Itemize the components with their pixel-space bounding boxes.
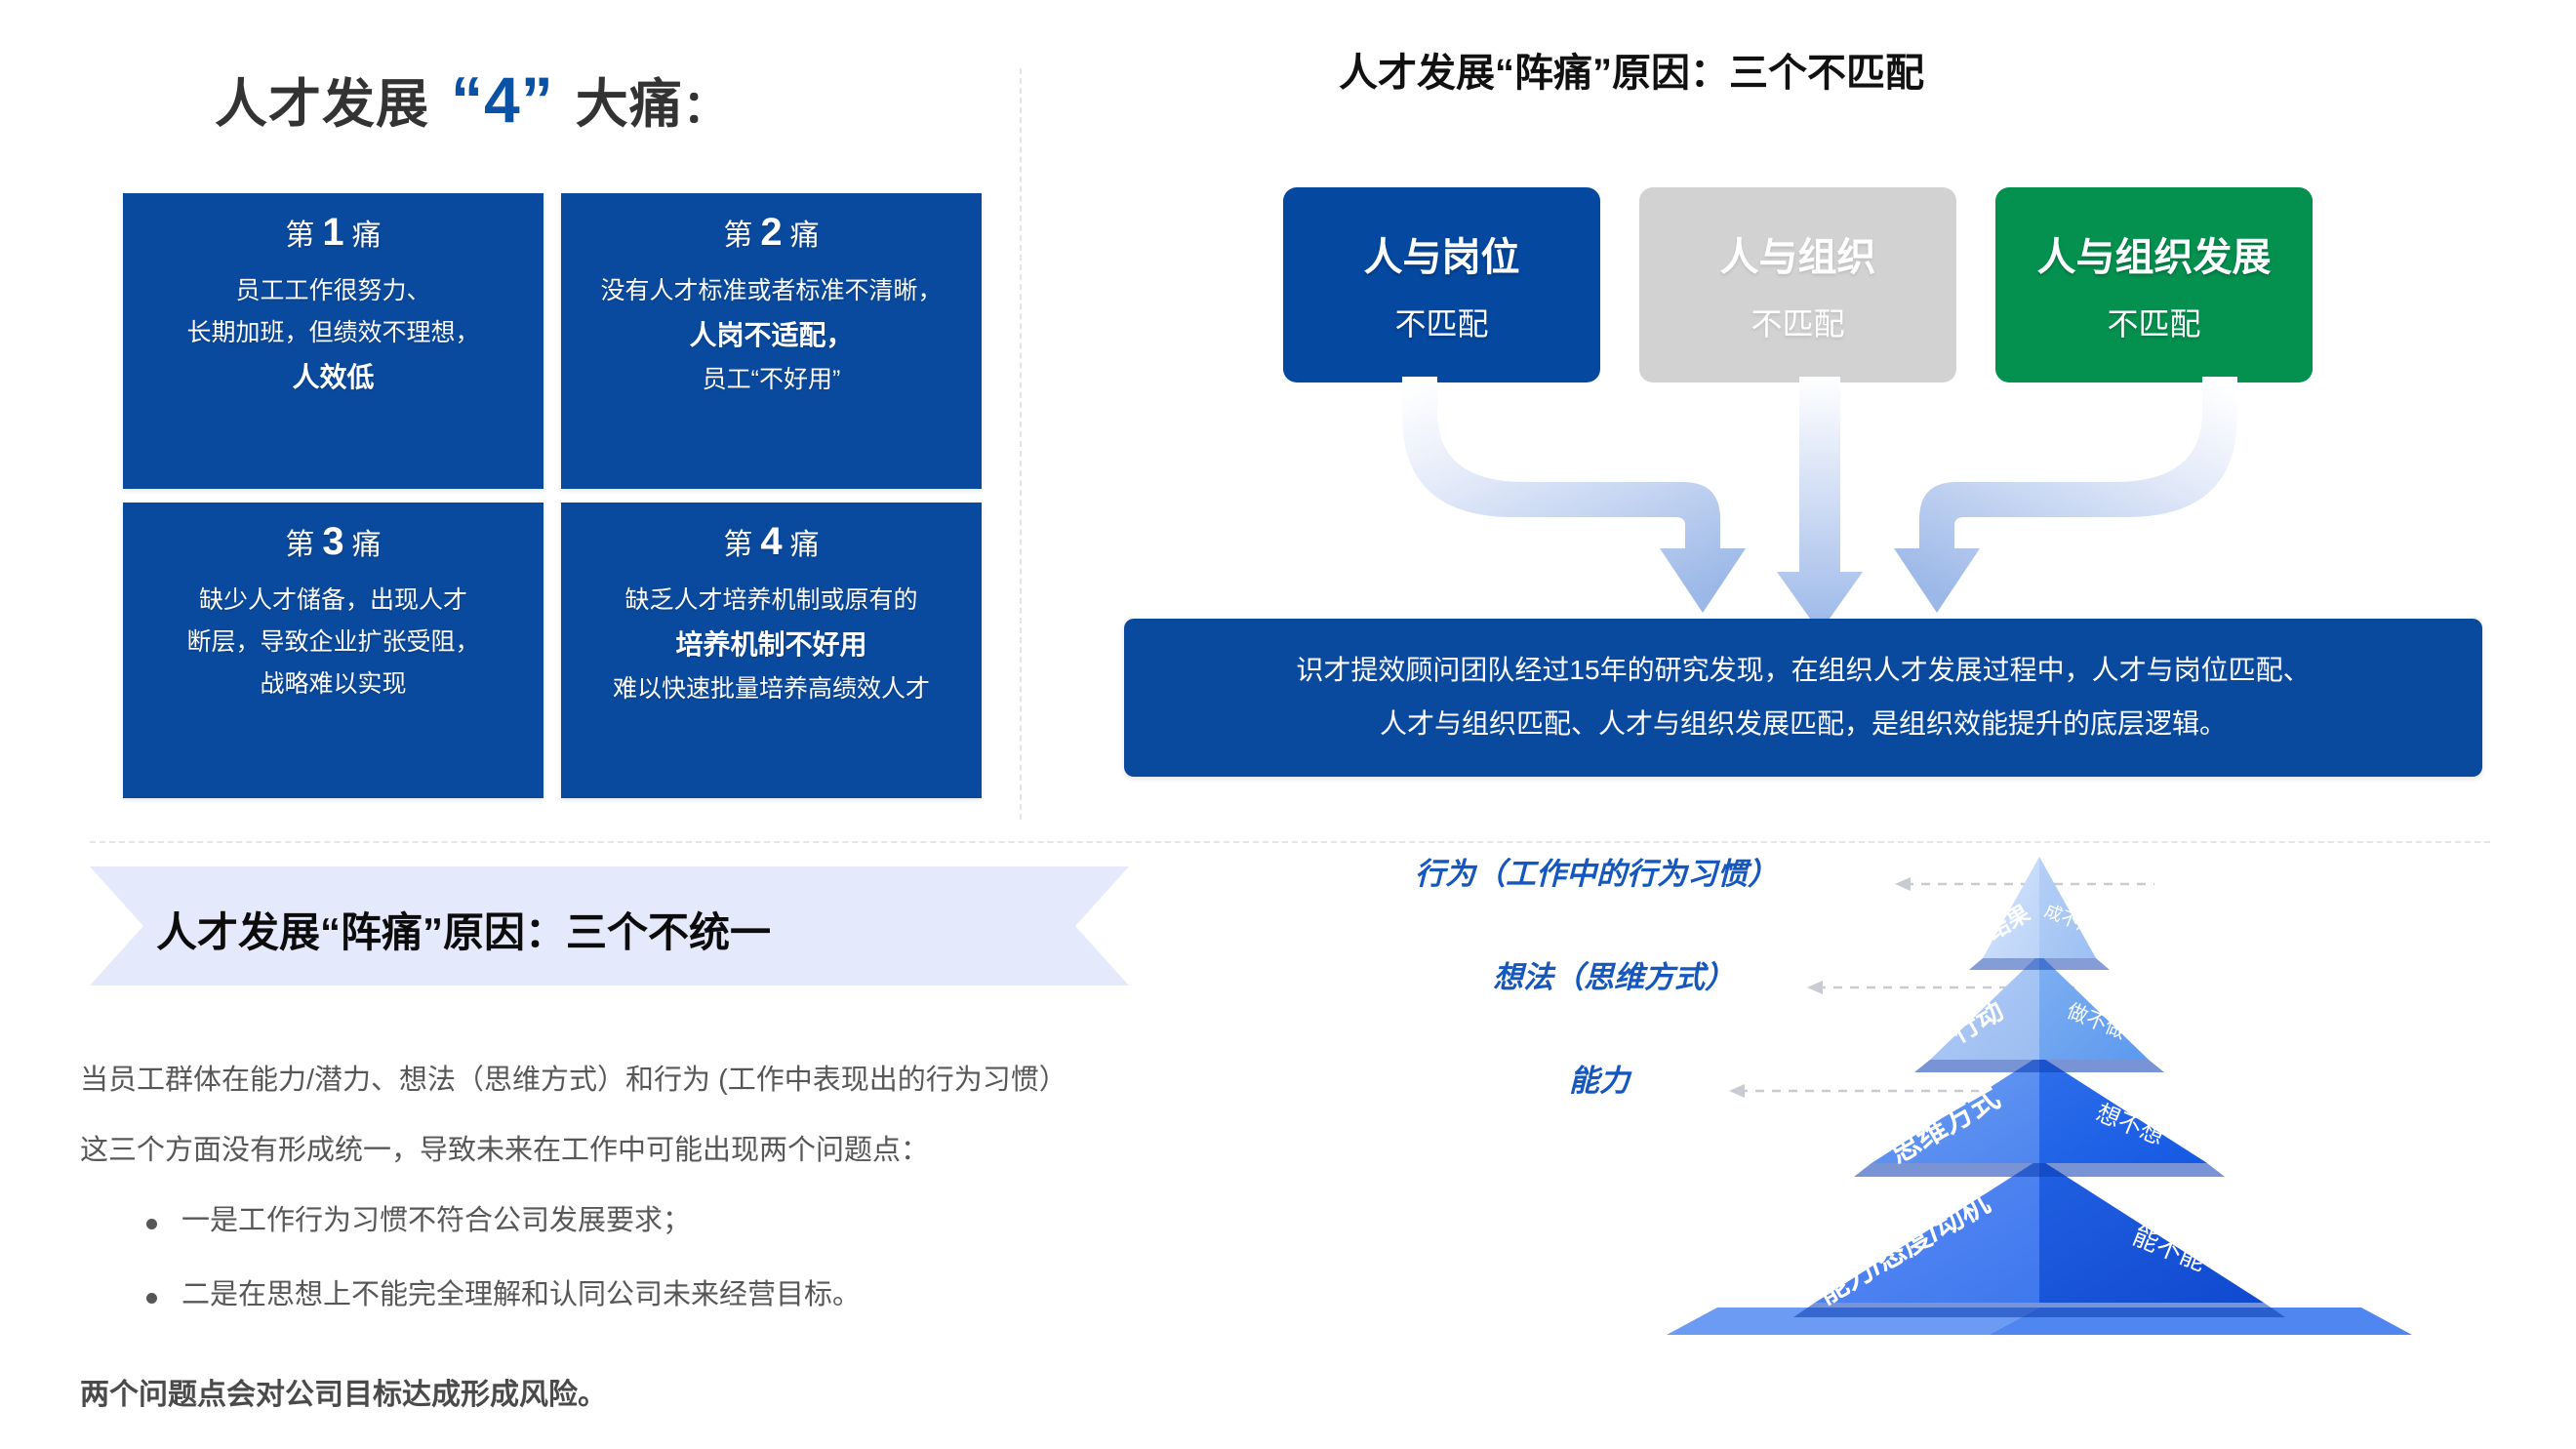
mismatch-card-1-status: 不匹配 bbox=[1394, 300, 1488, 344]
ribbon-banner-title: 人才发展“阵痛”原因：三个不统一 bbox=[156, 900, 771, 959]
pyramid-tier-2-right-face bbox=[2039, 954, 2149, 1060]
pyramid-tier-2-shadow bbox=[1914, 1060, 2164, 1072]
pains-title-pre: 人才发展 bbox=[215, 75, 429, 134]
pain-card-4[interactable]: 第4痛 缺乏人才培养机制或原有的 培养机制不好用 难以快速批量培养高绩效人才 bbox=[561, 503, 982, 798]
pain-1-line-3: 人效低 bbox=[135, 354, 532, 401]
pain-4-head-post: 痛 bbox=[790, 529, 820, 561]
pains-section-title: 人才发展 “4” 大痛： bbox=[215, 60, 729, 138]
pain-card-1-header: 第1痛 bbox=[285, 211, 381, 255]
pains-title-post: 大痛 bbox=[576, 75, 683, 134]
mismatch-card-person-org-development[interactable]: 人与组织发展 不匹配 bbox=[1995, 187, 2313, 382]
pain-2-head-pre: 第 bbox=[723, 220, 752, 252]
pains-title-number: “4” bbox=[445, 63, 560, 136]
mismatch-card-1-subject: 人与岗位 bbox=[1364, 225, 1520, 282]
pain-3-line-1: 缺少人才储备，出现人才 bbox=[135, 580, 532, 622]
pain-3-head-num: 3 bbox=[314, 520, 351, 563]
closing-statement: 两个问题点会对公司目标达成形成风险。 bbox=[80, 1370, 607, 1413]
arrow-left bbox=[1402, 377, 1746, 613]
list-item: 一是工作行为习惯不符合公司发展要求； bbox=[141, 1206, 1427, 1237]
pain-2-head-num: 2 bbox=[752, 211, 789, 254]
vertical-divider bbox=[1020, 68, 1022, 820]
pyramid-tier-4-shadow bbox=[1793, 1303, 2285, 1317]
pain-4-line-3: 难以快速批量培养高绩效人才 bbox=[573, 668, 970, 710]
pain-1-line-1: 员工工作很努力、 bbox=[135, 270, 532, 312]
pain-1-line-2: 长期加班，但绩效不理想， bbox=[135, 312, 532, 354]
mismatch-card-row: 人与岗位 不匹配 人与组织 不匹配 人与组织发展 不匹配 bbox=[1283, 187, 2356, 382]
mismatch-card-person-organization[interactable]: 人与组织 不匹配 bbox=[1639, 187, 1956, 382]
pain-1-head-pre: 第 bbox=[285, 220, 314, 252]
pain-card-1[interactable]: 第1痛 员工工作很努力、 长期加班，但绩效不理想， 人效低 bbox=[123, 193, 543, 489]
pyramid-svg: 结果 行动 思维方式 能力/态度/动机 成不成 做不做 想不想 能不能 bbox=[1356, 849, 2517, 1337]
arrow-right bbox=[1894, 377, 2237, 613]
converging-arrows-group bbox=[1283, 377, 2356, 621]
body-text-block: 当员工群体在能力/潜力、想法（思维方式）和行为 (工作中表现出的行为习惯） 这三… bbox=[80, 1066, 1427, 1354]
pain-card-3-header: 第3痛 bbox=[285, 520, 381, 564]
pain-3-head-pre: 第 bbox=[285, 529, 314, 561]
pain-card-2-body: 没有人才标准或者标准不清晰， 人岗不适配， 员工“不好用” bbox=[573, 270, 970, 401]
mismatch-card-3-status: 不匹配 bbox=[2107, 300, 2200, 344]
pain-4-line-1: 缺乏人才培养机制或原有的 bbox=[573, 580, 970, 622]
pain-4-line-2: 培养机制不好用 bbox=[573, 622, 970, 668]
pains-title-colon: ： bbox=[683, 81, 729, 132]
pain-card-3[interactable]: 第3痛 缺少人才储备，出现人才 断层，导致企业扩张受阻， 战略难以实现 bbox=[123, 503, 543, 798]
pain-3-line-3: 战略难以实现 bbox=[135, 664, 532, 705]
pain-card-2[interactable]: 第2痛 没有人才标准或者标准不清晰， 人岗不适配， 员工“不好用” bbox=[561, 193, 982, 489]
pain-2-line-2: 人岗不适配， bbox=[573, 312, 970, 359]
pain-3-line-2: 断层，导致企业扩张受阻， bbox=[135, 622, 532, 664]
infographic-page: 人才发展 “4” 大痛： 第1痛 员工工作很努力、 长期加班，但绩效不理想， 人… bbox=[0, 0, 2576, 1449]
pain-2-line-3: 员工“不好用” bbox=[573, 359, 970, 401]
mismatch-card-person-position[interactable]: 人与岗位 不匹配 bbox=[1283, 187, 1600, 382]
conclusion-line-1: 识才提效顾问团队经过15年的研究发现，在组织人才发展过程中，人才与岗位匹配、 bbox=[1296, 644, 2310, 698]
conclusion-line-2: 人才与组织匹配、人才与组织发展匹配，是组织效能提升的底层逻辑。 bbox=[1380, 698, 2227, 751]
problem-bullet-list: 一是工作行为习惯不符合公司发展要求； 二是在思想上不能完全理解和认同公司未来经营… bbox=[141, 1206, 1427, 1311]
pain-1-head-num: 1 bbox=[314, 211, 351, 254]
pain-card-4-header: 第4痛 bbox=[723, 520, 819, 564]
pain-card-grid: 第1痛 员工工作很努力、 长期加班，但绩效不理想， 人效低 第2痛 没有人才标准… bbox=[123, 193, 982, 798]
pain-4-head-num: 4 bbox=[752, 520, 789, 563]
pain-3-head-post: 痛 bbox=[352, 529, 382, 561]
pain-2-head-post: 痛 bbox=[790, 220, 820, 252]
list-item: 二是在思想上不能完全理解和认同公司未来经营目标。 bbox=[141, 1280, 1427, 1311]
pain-card-3-body: 缺少人才储备，出现人才 断层，导致企业扩张受阻， 战略难以实现 bbox=[135, 580, 532, 705]
mismatch-card-3-subject: 人与组织发展 bbox=[2037, 225, 2272, 282]
conclusion-box: 识才提效顾问团队经过15年的研究发现，在组织人才发展过程中，人才与岗位匹配、 人… bbox=[1124, 619, 2482, 777]
pyramid-tier-3-shadow bbox=[1854, 1163, 2225, 1177]
pyramid-diagram: 行为（工作中的行为习惯） 想法（思维方式） 能力 bbox=[1356, 849, 2517, 1337]
body-paragraph-2: 这三个方面没有形成统一，导致未来在工作中可能出现两个问题点： bbox=[80, 1136, 1427, 1167]
pain-4-head-pre: 第 bbox=[723, 529, 752, 561]
mismatch-card-2-subject: 人与组织 bbox=[1720, 225, 1876, 282]
pyramid-tier-1-shadow bbox=[1969, 958, 2110, 970]
horizontal-divider bbox=[90, 841, 2490, 843]
mismatch-card-2-status: 不匹配 bbox=[1751, 300, 1844, 344]
pain-2-line-1: 没有人才标准或者标准不清晰， bbox=[573, 270, 970, 312]
pain-card-4-body: 缺乏人才培养机制或原有的 培养机制不好用 难以快速批量培养高绩效人才 bbox=[573, 580, 970, 710]
pain-card-1-body: 员工工作很努力、 长期加班，但绩效不理想， 人效低 bbox=[135, 270, 532, 401]
pain-1-head-post: 痛 bbox=[352, 220, 382, 252]
mismatch-section-title: 人才发展“阵痛”原因：三个不匹配 bbox=[1339, 41, 1924, 98]
pain-card-2-header: 第2痛 bbox=[723, 211, 819, 255]
arrow-center bbox=[1777, 377, 1863, 621]
body-paragraph-1: 当员工群体在能力/潜力、想法（思维方式）和行为 (工作中表现出的行为习惯） bbox=[80, 1066, 1427, 1097]
